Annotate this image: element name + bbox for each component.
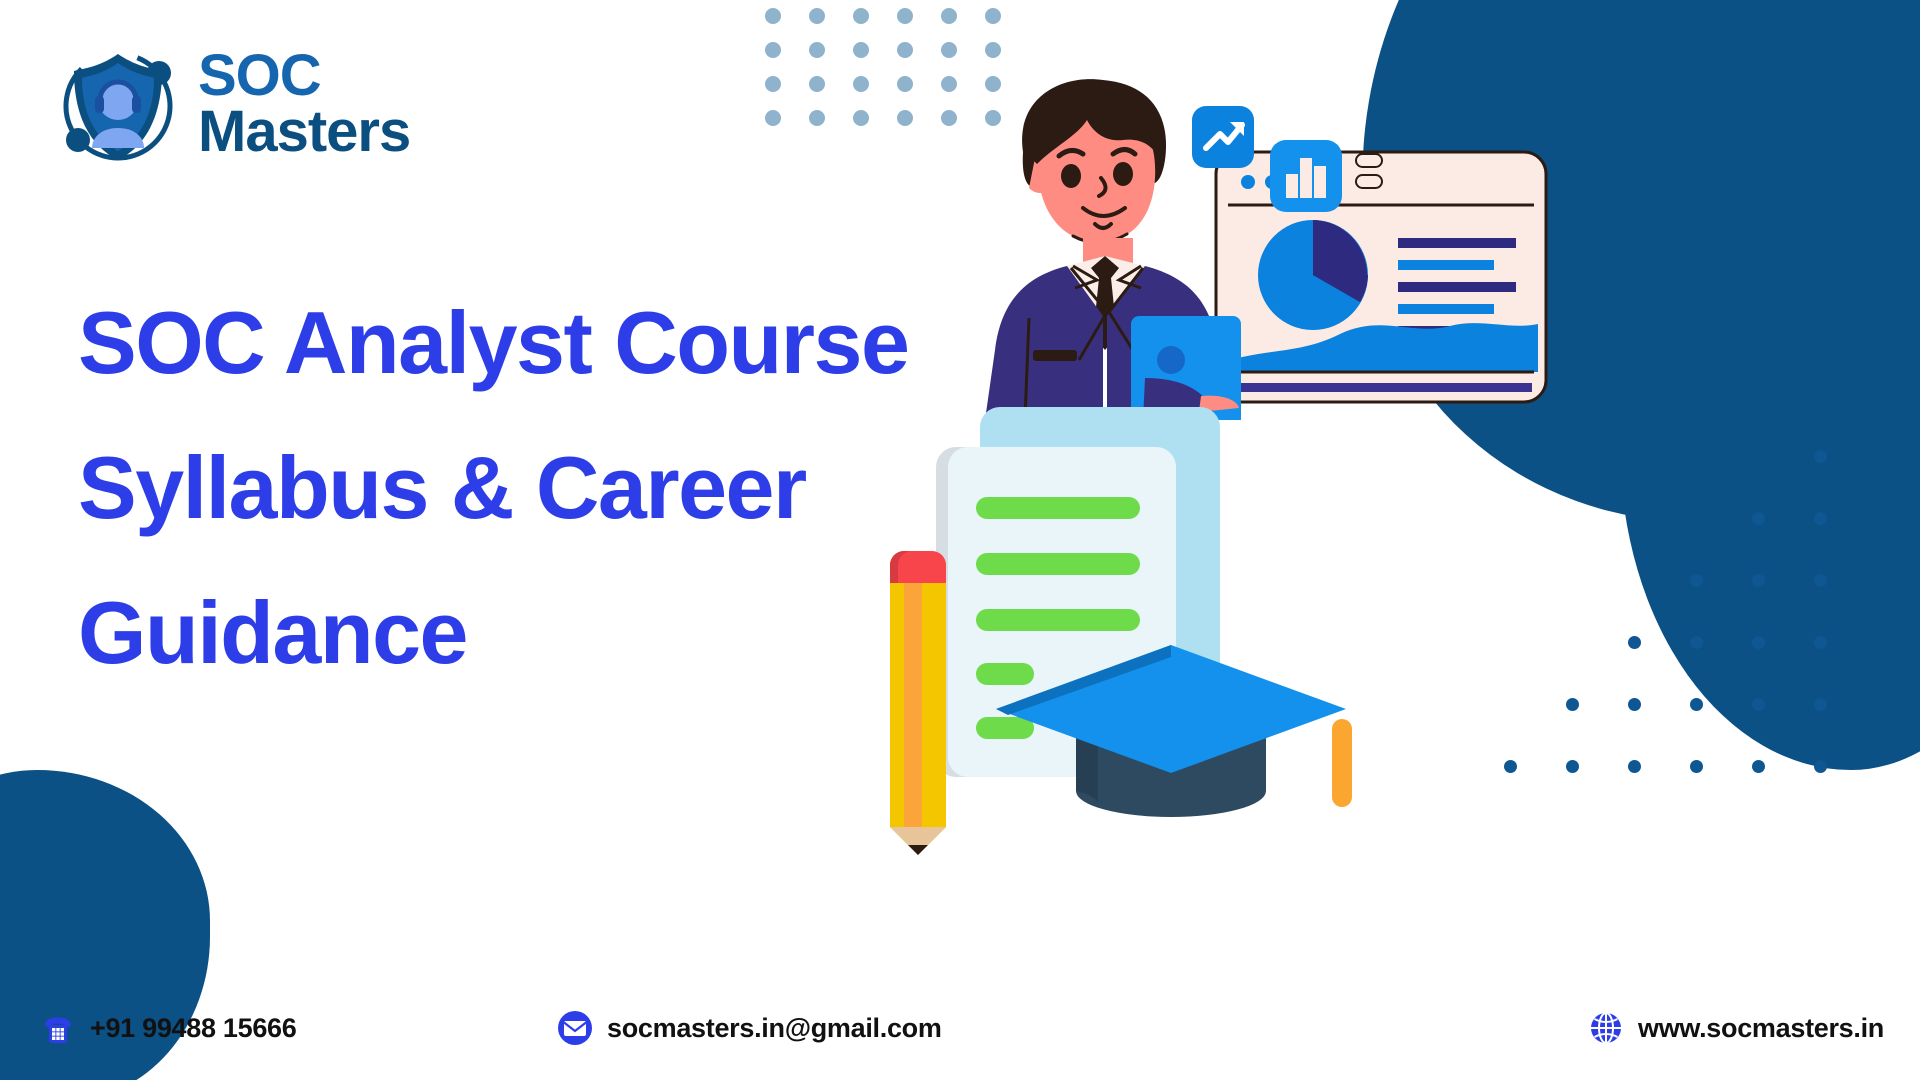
decor-dot xyxy=(1814,574,1827,587)
decor-dot xyxy=(1628,760,1641,773)
contact-phone-value: +91 99488 15666 xyxy=(90,1013,296,1044)
decor-dot xyxy=(765,8,781,24)
headline-line-2: Syllabus & Career xyxy=(78,415,1028,560)
decor-dot xyxy=(765,76,781,92)
decor-dot xyxy=(853,110,869,126)
decor-dot xyxy=(1566,760,1579,773)
telephone-icon xyxy=(40,1010,76,1046)
decor-dot xyxy=(1814,636,1827,649)
dot-grid-right xyxy=(1380,450,1900,870)
envelope-icon xyxy=(557,1010,593,1046)
decor-dot xyxy=(1628,636,1641,649)
decor-dot xyxy=(897,8,913,24)
decor-dot xyxy=(809,110,825,126)
decor-dot xyxy=(1814,512,1827,525)
decor-dot xyxy=(1752,698,1765,711)
decor-dot xyxy=(897,42,913,58)
shield-analyst-orbit-icon xyxy=(52,38,184,170)
decor-dot xyxy=(985,8,1001,24)
decor-dot xyxy=(941,8,957,24)
headline-line-1: SOC Analyst Course xyxy=(78,270,1028,415)
decor-dot xyxy=(853,76,869,92)
decor-dot xyxy=(1504,760,1517,773)
decor-dot xyxy=(1752,512,1765,525)
decor-dot xyxy=(853,8,869,24)
contact-website-value: www.socmasters.in xyxy=(1638,1013,1884,1044)
decor-dot xyxy=(1752,636,1765,649)
decor-dot xyxy=(809,76,825,92)
contact-email-value: socmasters.in@gmail.com xyxy=(607,1013,942,1044)
poster-canvas: SOC Masters SOC Analyst Course Syllabus … xyxy=(0,0,1920,1080)
decor-dot xyxy=(1690,760,1703,773)
decor-dot xyxy=(1690,698,1703,711)
decor-dot xyxy=(985,42,1001,58)
decor-dot xyxy=(897,110,913,126)
page-title: SOC Analyst Course Syllabus & Career Gui… xyxy=(78,270,1028,706)
decor-dot xyxy=(1690,574,1703,587)
decor-dot xyxy=(809,42,825,58)
decor-dot xyxy=(853,42,869,58)
decor-dot xyxy=(1566,698,1579,711)
headline-line-3: Guidance xyxy=(78,560,1028,705)
brand-logo[interactable]: SOC Masters xyxy=(52,38,410,170)
decor-dot xyxy=(1628,698,1641,711)
decor-dot xyxy=(1814,760,1827,773)
decor-dot xyxy=(897,76,913,92)
decor-dot xyxy=(765,42,781,58)
contact-phone[interactable]: +91 99488 15666 xyxy=(40,1010,296,1046)
logo-text-line1: SOC xyxy=(198,48,410,104)
contact-email[interactable]: socmasters.in@gmail.com xyxy=(557,1010,942,1046)
contact-website[interactable]: www.socmasters.in xyxy=(1588,1010,1884,1046)
decor-dot xyxy=(765,110,781,126)
contact-bar: +91 99488 15666 socmasters.in@gmail.com xyxy=(0,1000,1920,1056)
logo-text-line2: Masters xyxy=(198,104,410,160)
decor-dot xyxy=(809,8,825,24)
decor-dot xyxy=(1814,450,1827,463)
decor-dot xyxy=(941,42,957,58)
globe-icon xyxy=(1588,1010,1624,1046)
decor-dot xyxy=(1690,636,1703,649)
decor-dot xyxy=(1814,698,1827,711)
decor-dot xyxy=(1752,760,1765,773)
decor-dot xyxy=(1752,574,1765,587)
